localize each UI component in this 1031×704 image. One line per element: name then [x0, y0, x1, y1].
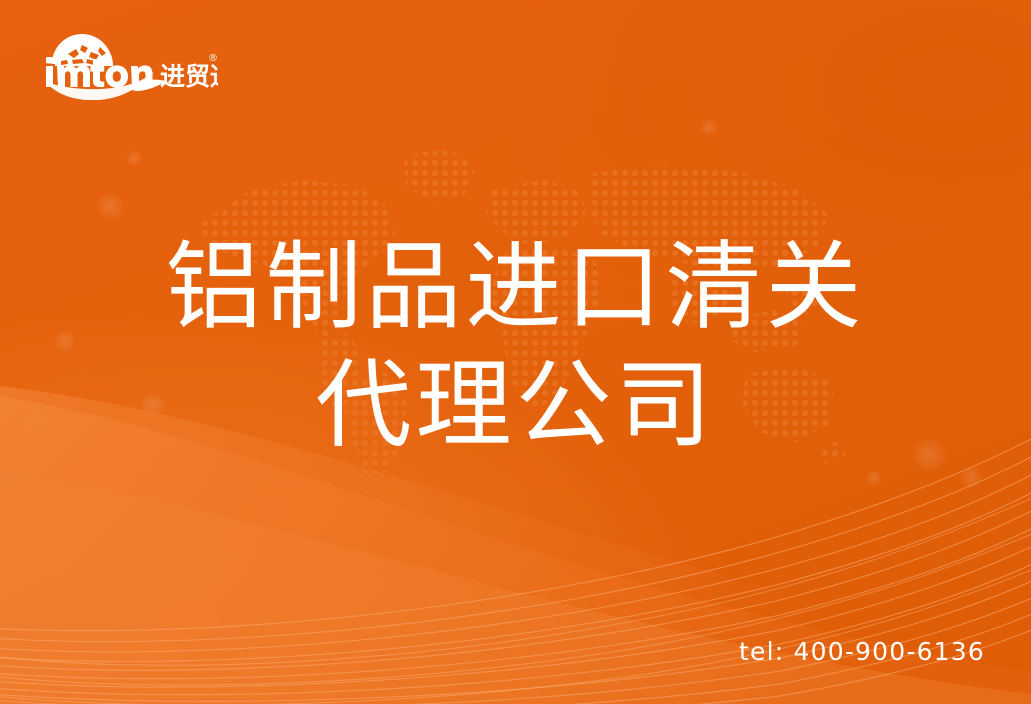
promo-banner: 进贸通 ® imton 进贸通 ® 铝制品进口清关 代理公司 tel: 400-…	[0, 0, 1031, 704]
page-title: 铝制品进口清关 代理公司	[0, 228, 1031, 464]
bokeh-circle	[96, 192, 124, 220]
contact-phone[interactable]: tel: 400-900-6136	[739, 637, 985, 666]
bokeh-circle	[126, 150, 142, 166]
logo-chinese-name: 进贸通	[160, 62, 218, 91]
headline-line-2: 代理公司	[0, 346, 1031, 464]
headline-line-1: 铝制品进口清关	[0, 228, 1031, 346]
bokeh-circle	[700, 118, 718, 136]
bokeh-circle	[866, 470, 882, 486]
trademark-icon: ®	[208, 53, 218, 64]
brand-logo[interactable]: 进贸通 ®	[38, 28, 218, 100]
bokeh-circle	[960, 466, 982, 488]
